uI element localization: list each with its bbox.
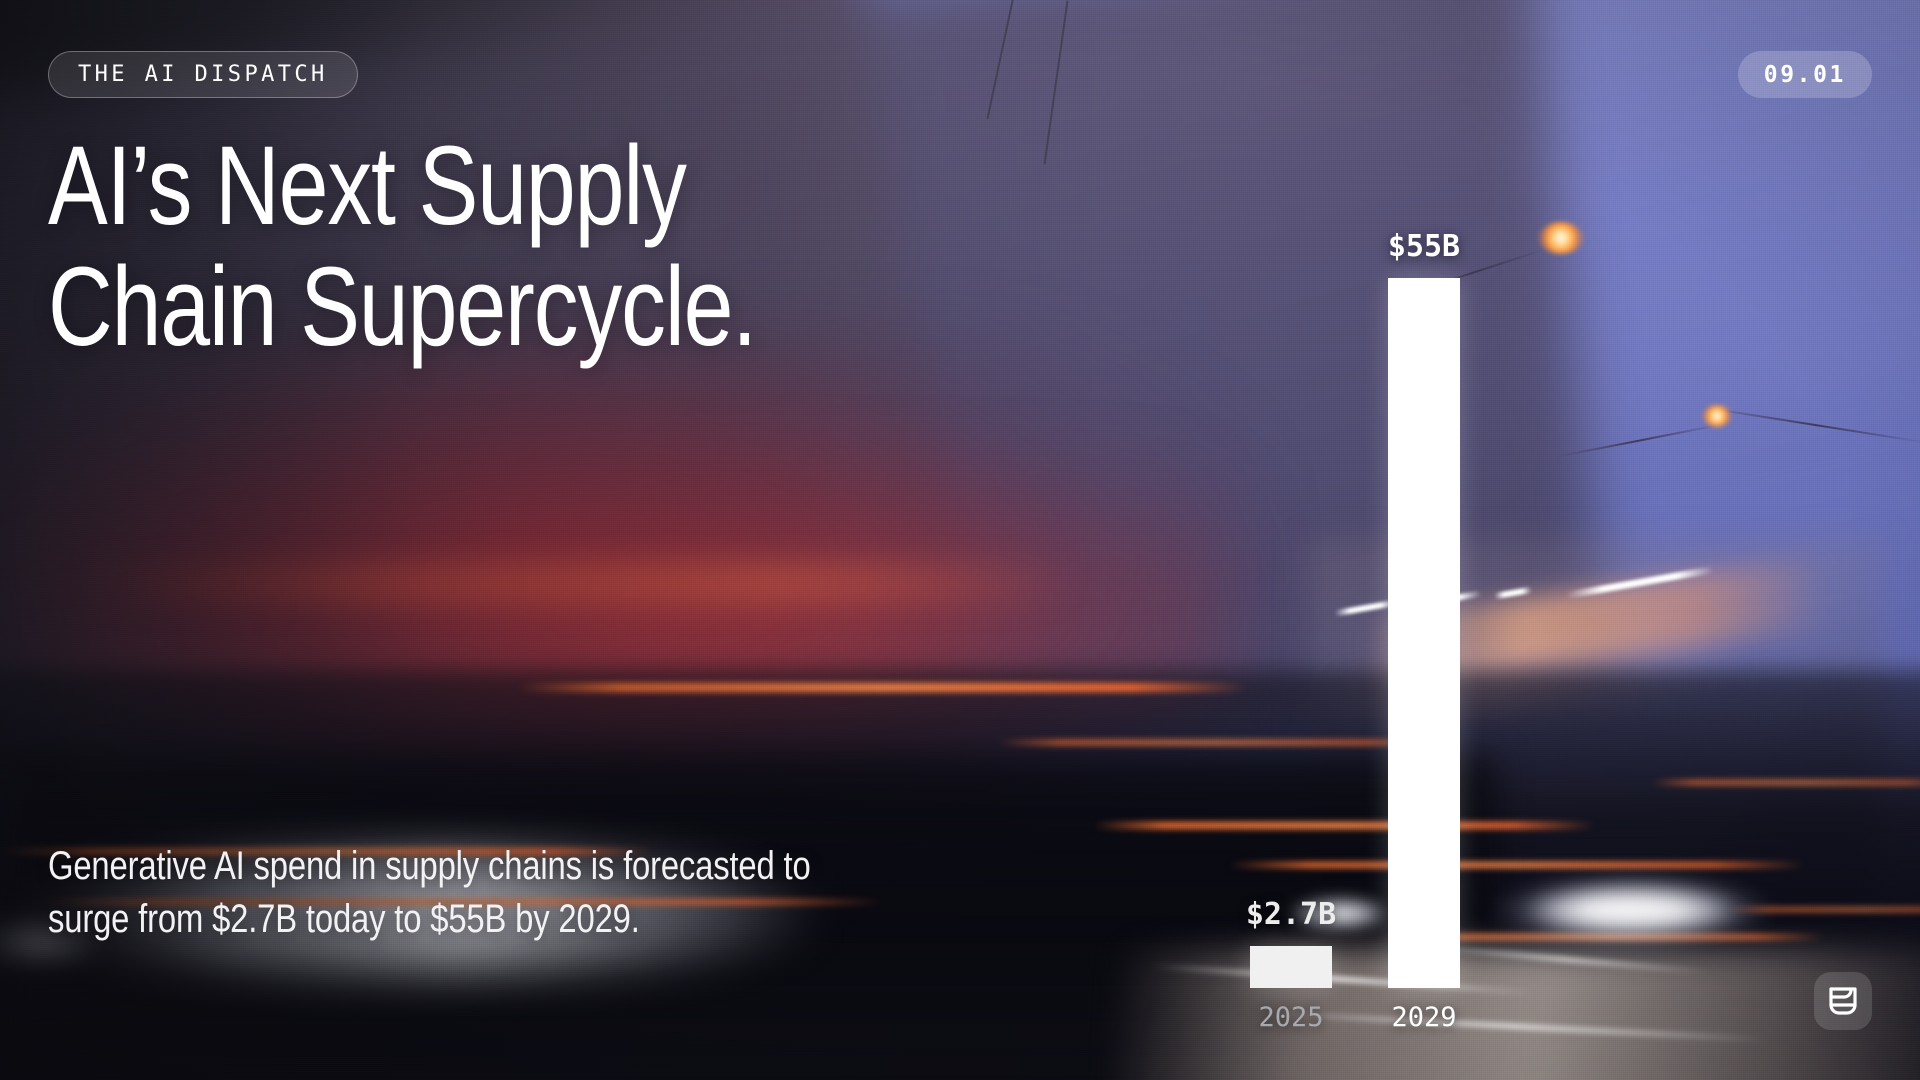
bar-group-2029: $55B 2029 [1388, 278, 1460, 988]
bar-value-label-2029: $55B [1388, 229, 1460, 264]
bar-category-label-2025: 2025 [1258, 1002, 1323, 1033]
eyebrow-badge: THE AI DISPATCH [48, 51, 358, 98]
bar-value-label-2025: $2.7B [1246, 897, 1336, 932]
page-title: AI’s Next Supply Chain Supercycle. [48, 126, 880, 368]
bar-group-2025: $2.7B 2025 [1250, 946, 1332, 988]
brand-logo [1814, 972, 1872, 1030]
bar-2025 [1250, 946, 1332, 988]
deck-text: Generative AI spend in supply chains is … [48, 840, 868, 946]
leaf-layers-logo-icon [1826, 984, 1860, 1018]
bar-2029 [1388, 278, 1460, 988]
social-card: THE AI DISPATCH 09.01 AI’s Next Supply C… [0, 0, 1920, 1080]
date-badge: 09.01 [1738, 51, 1872, 98]
card-content: THE AI DISPATCH 09.01 AI’s Next Supply C… [0, 0, 1920, 1080]
mini-bar-chart: $2.7B 2025 $55B 2029 [1240, 40, 1540, 1050]
bar-category-label-2029: 2029 [1391, 1002, 1456, 1033]
